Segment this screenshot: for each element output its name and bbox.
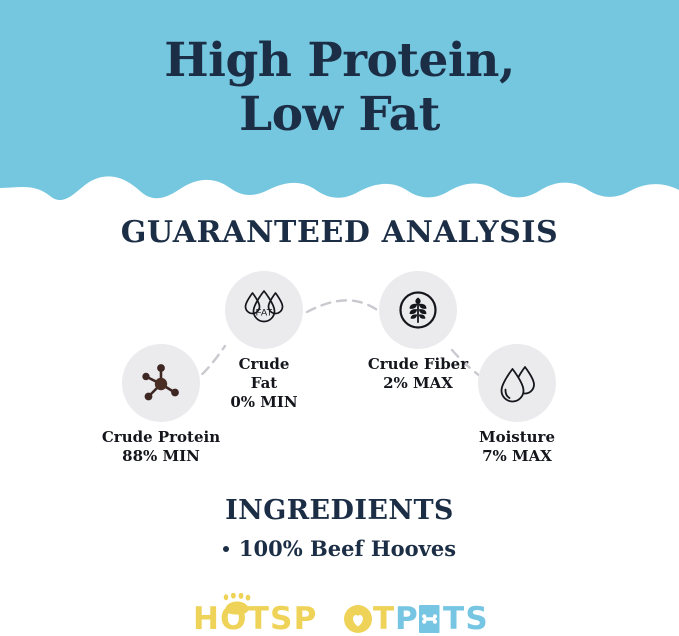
crude-fiber-bubble: [379, 271, 457, 349]
list-item: 100% Beef Hooves: [0, 536, 679, 562]
fat-droplets-icon: FAT: [239, 287, 289, 333]
crude-fat-value: 0% MIN: [164, 393, 364, 412]
ingredients-heading: INGREDIENTS: [0, 495, 679, 526]
logo-e-with-bone: [419, 605, 440, 633]
hero-title-line-1: High Protein,: [0, 34, 679, 88]
logo-text-hotspot-tail: T: [373, 601, 395, 635]
hotspotpets-wordmark: HOTSP T P TS: [190, 593, 490, 635]
brand-logo[interactable]: HOTSP T P TS: [0, 592, 679, 636]
hero-title-line-2: Low Fat: [0, 88, 679, 142]
bullet-icon: [223, 546, 229, 552]
crude-protein-label: Crude Protein 88% MIN: [61, 428, 261, 466]
fat-icon-text: FAT: [256, 308, 273, 319]
hero-title: High Protein, Low Fat: [0, 34, 679, 142]
crude-protein-name: Crude Protein: [61, 428, 261, 447]
logo-text-hotspot: HOTSP: [193, 601, 318, 635]
ingredient-text: 100% Beef Hooves: [239, 536, 456, 561]
moisture-value: 7% MAX: [417, 447, 617, 466]
logo-text-pets-p: P: [395, 601, 419, 635]
moisture-bubble: [478, 344, 556, 422]
ingredients-list: 100% Beef Hooves: [0, 536, 679, 562]
crude-protein-value: 88% MIN: [61, 447, 261, 466]
moisture-name: Moisture: [417, 428, 617, 447]
moisture-label: Moisture 7% MAX: [417, 428, 617, 466]
crude-fat-bubble: FAT: [225, 271, 303, 349]
hero-banner: High Protein, Low Fat: [0, 0, 679, 215]
logo-o-with-heart: [344, 605, 372, 633]
water-droplets-icon: [492, 358, 542, 408]
logo-text-pets-ts: TS: [443, 601, 489, 635]
wheat-grain-icon: [394, 286, 442, 334]
guaranteed-analysis-diagram: Crude Protein 88% MIN FAT Crude Fat 0% M…: [0, 262, 679, 487]
guaranteed-analysis-heading: GUARANTEED ANALYSIS: [0, 215, 679, 250]
